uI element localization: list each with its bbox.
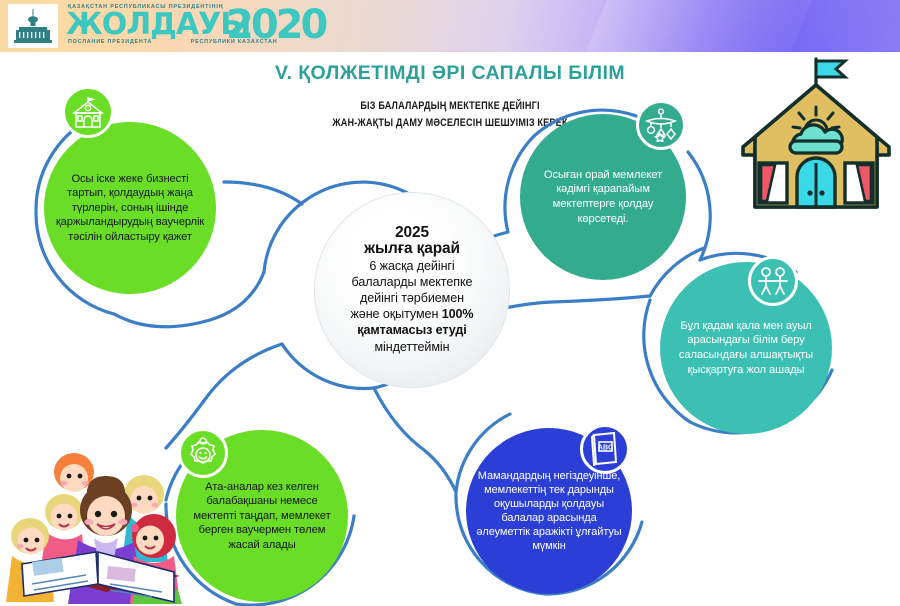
- school-house-illustration: [737, 55, 895, 215]
- center-line-4: балаларды мектепке: [350, 274, 473, 290]
- school-building-icon: [62, 86, 114, 138]
- abc-book-label: ABC: [598, 445, 613, 452]
- child-orange: [54, 453, 94, 492]
- ribbon-center-arc-left: [264, 200, 306, 272]
- bubble-top-left[interactable]: Осы іске жеке бизнесті тартып, қолдаудың…: [44, 122, 216, 294]
- center-line-8: міндеттеймін: [350, 339, 473, 355]
- center-line-7: қамтамасыз етуді: [350, 322, 473, 338]
- center-year: 2025: [350, 225, 473, 241]
- center-line-7-text: қамтамасыз етуді: [357, 323, 466, 337]
- bubble-bottom-left-text: Ата-аналар кез келген балабақшаны немесе…: [176, 480, 348, 553]
- abc-book-svg: ABC: [590, 432, 620, 466]
- school-building-svg: [71, 96, 105, 128]
- ribbon-tl-upper-link: [224, 182, 302, 204]
- baby-mobile-svg: [644, 108, 678, 142]
- baby-mobile-icon: [636, 100, 686, 150]
- bubble-right-text: Бұл қадам қала мен ауыл арасындағы білім…: [660, 319, 832, 377]
- center-line-6-a: және оқытумен: [350, 307, 441, 321]
- bubble-top-right-text: Осыған орай мемлекет кәдімгі қарапайым м…: [520, 168, 686, 226]
- ribbon-tr-arc-right: [688, 152, 710, 260]
- center-percent: 100%: [442, 307, 474, 321]
- center-line-6: және оқытумен 100%: [350, 306, 473, 322]
- infographic-page: ҚАЗАҚСТАН РЕСПУБЛИКАСЫ ПРЕЗИДЕНТІНІҢ ЖОЛ…: [0, 0, 900, 606]
- center-line-5: дейінгі тәрбиемен: [350, 290, 473, 306]
- two-children-svg: [756, 266, 790, 296]
- abc-book-icon: ABC: [580, 424, 630, 474]
- teacher-reading-with-children-illustration: [2, 432, 198, 604]
- bubble-bottom-center-text: Мамандардың негіздеуінше, мемлекеттің те…: [466, 469, 632, 553]
- ribbon-center-to-bc: [374, 388, 456, 492]
- center-line-3: 6 жасқа дейінгі: [350, 258, 473, 274]
- bubble-right[interactable]: Бұл қадам қала мен ауыл арасындағы білім…: [660, 262, 832, 434]
- center-text: 2025 жылға қарай 6 жасқа дейінгі балалар…: [340, 225, 483, 355]
- bubble-top-left-text: Осы іске жеке бизнесті тартып, қолдаудың…: [44, 172, 216, 245]
- two-children-icon: [748, 256, 798, 306]
- bubble-center-goal[interactable]: 2025 жылға қарай 6 жасқа дейінгі балалар…: [314, 192, 510, 388]
- center-line-2: жылға қарай: [350, 241, 473, 257]
